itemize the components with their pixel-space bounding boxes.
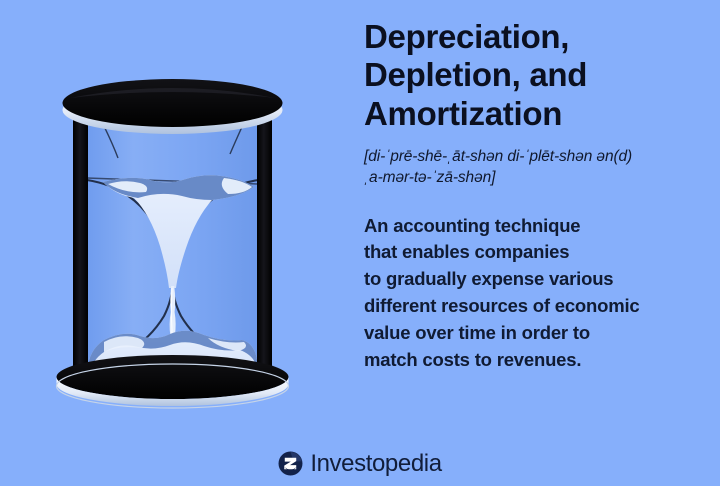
hourglass-illustration	[0, 0, 345, 440]
investopedia-logo: Investopedia	[0, 451, 720, 476]
definition-line-3: to gradually expense various	[364, 268, 613, 289]
title-line-3: Amortization	[364, 95, 562, 132]
infographic-card: Depreciation,Depletion, andAmortization …	[0, 0, 720, 486]
definition-line-1: An accounting technique	[364, 215, 580, 236]
definition-line-4: different resources of economic	[364, 295, 639, 316]
pronunciation-line-1: [di-ˈprē-shē-ˌāt-shən di-ˈplēt-shən ən(d…	[364, 148, 632, 165]
hourglass-svg	[0, 0, 345, 440]
hourglass-top-cap	[63, 79, 283, 134]
text-column: Depreciation,Depletion, andAmortization …	[364, 18, 704, 373]
definition-line-5: value over time in order to	[364, 322, 590, 343]
definition-line-2: that enables companies	[364, 241, 569, 262]
investopedia-logo-icon	[278, 451, 303, 476]
title-line-2: Depletion, and	[364, 56, 587, 93]
investopedia-wordmark: Investopedia	[310, 452, 441, 476]
definition-text: An accounting techniquethat enables comp…	[364, 213, 704, 374]
hourglass-bottom-cap	[57, 355, 289, 408]
page-title: Depreciation,Depletion, andAmortization	[364, 18, 704, 133]
definition-line-6: match costs to revenues.	[364, 349, 581, 370]
pronunciation-text: [di-ˈprē-shē-ˌāt-shən di-ˈplēt-shən ən(d…	[364, 146, 704, 189]
title-line-1: Depreciation,	[364, 18, 569, 55]
pronunciation-line-2: ˌa-mər-tə-ˈzā-shən]	[364, 169, 495, 186]
